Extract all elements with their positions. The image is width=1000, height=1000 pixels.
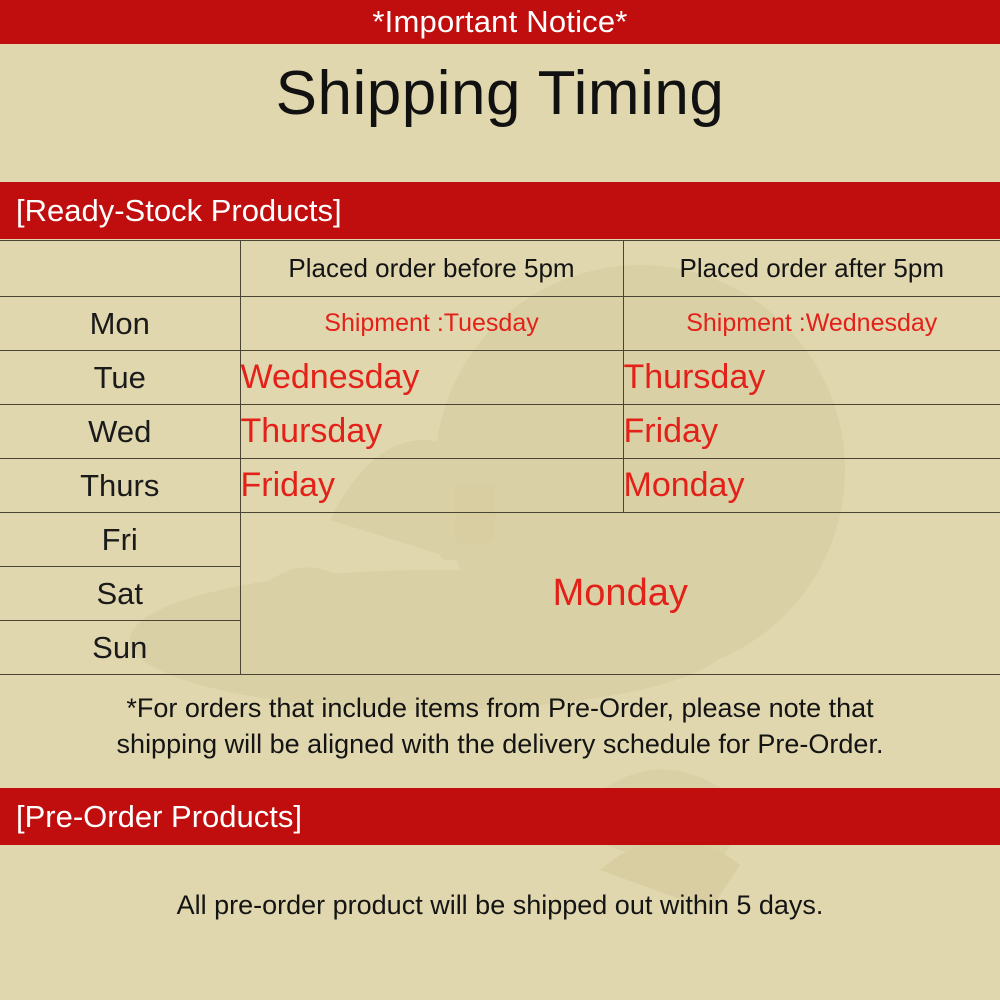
preorder-shipping-note: All pre-order product will be shipped ou… xyxy=(0,890,1000,921)
table-row: Tue Wednesday Thursday xyxy=(0,351,1000,405)
table-row: Fri Monday xyxy=(0,513,1000,567)
row-day-label: Wed xyxy=(0,405,240,459)
preorder-footnote: *For orders that include items from Pre-… xyxy=(0,690,1000,762)
footnote-line-2: shipping will be aligned with the delive… xyxy=(0,726,1000,762)
row-before-value: Shipment :Tuesday xyxy=(240,297,623,351)
row-day-label: Sun xyxy=(0,621,240,675)
header-day-column xyxy=(0,241,240,297)
row-day-label: Sat xyxy=(0,567,240,621)
ready-stock-section-header: [Ready-Stock Products] xyxy=(0,182,1000,239)
header-after-5pm: Placed order after 5pm xyxy=(623,241,1000,297)
weekend-merged-value: Monday xyxy=(240,513,1000,675)
row-before-value: Friday xyxy=(240,459,623,513)
row-day-label: Mon xyxy=(0,297,240,351)
table-row: Wed Thursday Friday xyxy=(0,405,1000,459)
preorder-section-header: [Pre-Order Products] xyxy=(0,788,1000,845)
footnote-line-1: *For orders that include items from Pre-… xyxy=(0,690,1000,726)
page-title: Shipping Timing xyxy=(0,58,1000,129)
important-notice-banner: *Important Notice* xyxy=(0,0,1000,44)
row-after-value: Shipment :Wednesday xyxy=(623,297,1000,351)
table-header-row: Placed order before 5pm Placed order aft… xyxy=(0,241,1000,297)
header-before-5pm: Placed order before 5pm xyxy=(240,241,623,297)
row-before-value: Wednesday xyxy=(240,351,623,405)
table-row: Thurs Friday Monday xyxy=(0,459,1000,513)
shipping-schedule-table: Placed order before 5pm Placed order aft… xyxy=(0,240,1000,675)
row-day-label: Fri xyxy=(0,513,240,567)
row-after-value: Thursday xyxy=(623,351,1000,405)
shipping-timing-notice: *Important Notice* Shipping Timing [Read… xyxy=(0,0,1000,1000)
table-row: Mon Shipment :Tuesday Shipment :Wednesda… xyxy=(0,297,1000,351)
row-after-value: Friday xyxy=(623,405,1000,459)
row-day-label: Thurs xyxy=(0,459,240,513)
row-after-value: Monday xyxy=(623,459,1000,513)
row-day-label: Tue xyxy=(0,351,240,405)
row-before-value: Thursday xyxy=(240,405,623,459)
